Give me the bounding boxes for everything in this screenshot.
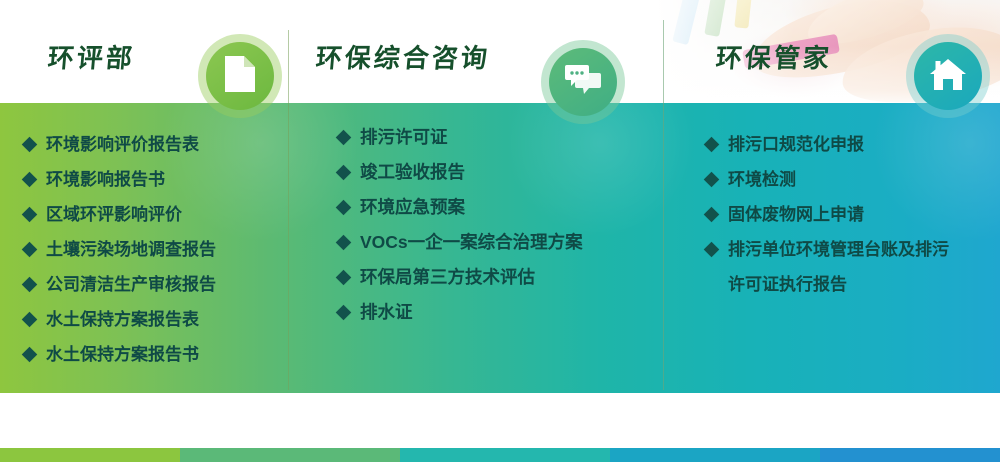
diamond-bullet-icon — [336, 305, 352, 321]
list-item-label: 土壤污染场地调查报告 — [46, 232, 286, 267]
diamond-bullet-icon — [22, 242, 38, 258]
badge-core-2 — [549, 48, 617, 116]
list-item-label: 排污单位环境管理台账及排污 — [728, 232, 986, 267]
diamond-bullet-icon — [704, 172, 720, 188]
diamond-bullet-icon — [22, 172, 38, 188]
diamond-bullet-icon — [336, 165, 352, 181]
bottom-white-gap — [0, 393, 1000, 448]
footer-segment — [180, 448, 400, 462]
list-item-label: 环境检测 — [728, 162, 986, 197]
diamond-bullet-icon — [704, 207, 720, 223]
diamond-bullet-icon — [22, 137, 38, 153]
list-item-label: 竣工验收报告 — [360, 155, 658, 190]
list-item[interactable]: 环境影响报告书 — [24, 162, 286, 197]
badge-core-1 — [206, 42, 274, 110]
list-item-label: 环境应急预案 — [360, 190, 658, 225]
list-col3: 排污口规范化申报 环境检测 固体废物网上申请 排污单位环境管理台账及排污 许可证… — [706, 127, 986, 302]
home-icon — [929, 57, 967, 96]
list-item[interactable]: 环境影响评价报告表 — [24, 127, 286, 162]
diamond-bullet-icon — [704, 242, 720, 258]
diamond-bullet-icon — [22, 312, 38, 328]
diamond-bullet-icon — [22, 277, 38, 293]
list-item[interactable]: 土壤污染场地调查报告 — [24, 232, 286, 267]
list-item[interactable]: 排污口规范化申报 — [706, 127, 986, 162]
diamond-bullet-icon — [22, 347, 38, 363]
column-divider-2 — [663, 20, 664, 390]
list-item-label: 固体废物网上申请 — [728, 197, 986, 232]
diamond-bullet-icon — [336, 130, 352, 146]
list-item[interactable]: 排污单位环境管理台账及排污 — [706, 232, 986, 267]
diamond-bullet-icon — [22, 207, 38, 223]
list-item-label: 区域环评影响评价 — [46, 197, 286, 232]
footer-color-bar — [0, 448, 1000, 462]
list-item-label: 水土保持方案报告表 — [46, 302, 286, 337]
top-white-band — [0, 0, 1000, 103]
chat-bubbles-icon — [565, 65, 601, 100]
badge-col2 — [541, 40, 625, 124]
list-item-label: 公司清洁生产审核报告 — [46, 267, 286, 302]
list-item-label: 排水证 — [360, 295, 658, 330]
column-divider-1 — [288, 30, 289, 390]
list-item[interactable]: 环保局第三方技术评估 — [338, 260, 658, 295]
list-item[interactable]: 竣工验收报告 — [338, 155, 658, 190]
list-item[interactable]: 水土保持方案报告书 — [24, 337, 286, 372]
badge-col1 — [198, 34, 282, 118]
list-item[interactable]: 固体废物网上申请 — [706, 197, 986, 232]
diamond-bullet-icon — [336, 235, 352, 251]
page-title-col2: 环保综合咨询 — [314, 38, 491, 75]
infographic-stage: 环评部 环保综合咨询 环保管家 — [0, 0, 1000, 462]
list-item[interactable]: 环境检测 — [706, 162, 986, 197]
list-item-label: 环境影响报告书 — [46, 162, 286, 197]
list-item-continuation: 许可证执行报告 — [706, 267, 986, 302]
list-item[interactable]: VOCs一企一案综合治理方案 — [338, 225, 658, 260]
diamond-bullet-icon — [336, 270, 352, 286]
footer-segment — [820, 448, 1000, 462]
page-title-col3: 环保管家 — [714, 38, 833, 75]
list-item-label: 排污许可证 — [360, 120, 658, 155]
page-title-col1: 环评部 — [46, 38, 136, 75]
document-icon — [225, 56, 255, 97]
list-item[interactable]: 排水证 — [338, 295, 658, 330]
list-item-label: 水土保持方案报告书 — [46, 337, 286, 372]
list-item-label: 环境影响评价报告表 — [46, 127, 286, 162]
list-item[interactable]: 水土保持方案报告表 — [24, 302, 286, 337]
diamond-bullet-icon — [336, 200, 352, 216]
footer-segment — [610, 448, 820, 462]
badge-core-3 — [914, 42, 982, 110]
diamond-bullet-icon — [704, 137, 720, 153]
list-col2: 排污许可证 竣工验收报告 环境应急预案 VOCs一企一案综合治理方案 环保局第三… — [338, 120, 658, 330]
list-item[interactable]: 环境应急预案 — [338, 190, 658, 225]
list-item[interactable]: 区域环评影响评价 — [24, 197, 286, 232]
list-item-label: VOCs一企一案综合治理方案 — [360, 225, 658, 260]
list-item[interactable]: 排污许可证 — [338, 120, 658, 155]
list-col1: 环境影响评价报告表 环境影响报告书 区域环评影响评价 土壤污染场地调查报告 公司… — [24, 127, 286, 372]
list-item-label: 环保局第三方技术评估 — [360, 260, 658, 295]
badge-col3 — [906, 34, 990, 118]
footer-segment — [400, 448, 610, 462]
footer-segment — [0, 448, 180, 462]
list-item-label: 排污口规范化申报 — [728, 127, 986, 162]
list-item[interactable]: 公司清洁生产审核报告 — [24, 267, 286, 302]
